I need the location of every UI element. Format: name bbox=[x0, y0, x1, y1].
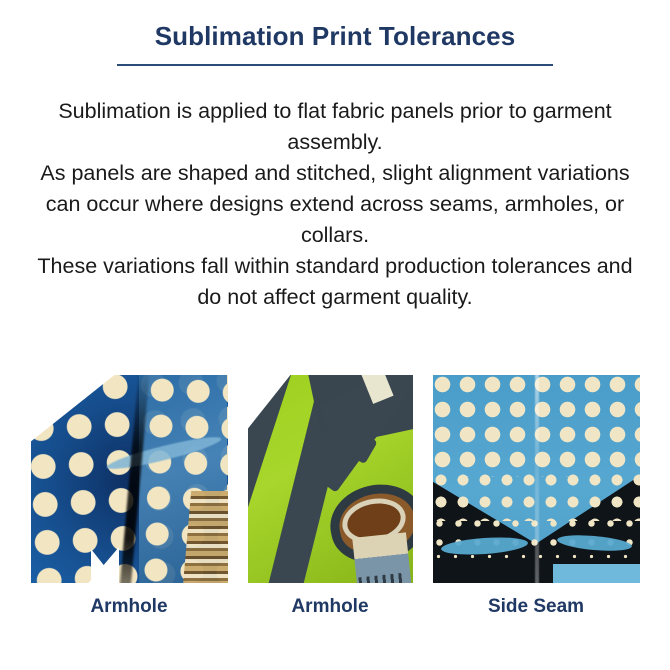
card-caption: Side Seam bbox=[488, 597, 584, 618]
title-divider bbox=[117, 64, 553, 66]
body-copy: Sublimation is applied to flat fabric pa… bbox=[25, 96, 645, 313]
sublimation-tolerances-page: Sublimation Print Tolerances Sublimation… bbox=[0, 0, 670, 670]
example-cards-row: Armhole bbox=[0, 375, 670, 618]
blue-polka-dot-armhole-photo bbox=[31, 375, 228, 583]
example-card-side-seam: Side Seam bbox=[433, 375, 640, 618]
body-paragraph-3: These variations fall within standard pr… bbox=[25, 251, 645, 313]
blue-black-halftone-side-seam-photo bbox=[433, 375, 640, 583]
page-title: Sublimation Print Tolerances bbox=[0, 22, 670, 52]
lime-green-armhole-photo bbox=[248, 375, 413, 583]
example-card-armhole-1: Armhole bbox=[31, 375, 228, 618]
page-header: Sublimation Print Tolerances bbox=[0, 0, 670, 66]
body-paragraph-1: Sublimation is applied to flat fabric pa… bbox=[25, 96, 645, 158]
body-paragraph-2: As panels are shaped and stitched, sligh… bbox=[25, 158, 645, 251]
example-card-armhole-2: Armhole bbox=[248, 375, 413, 618]
card-caption: Armhole bbox=[291, 597, 368, 618]
card-caption: Armhole bbox=[90, 597, 167, 618]
